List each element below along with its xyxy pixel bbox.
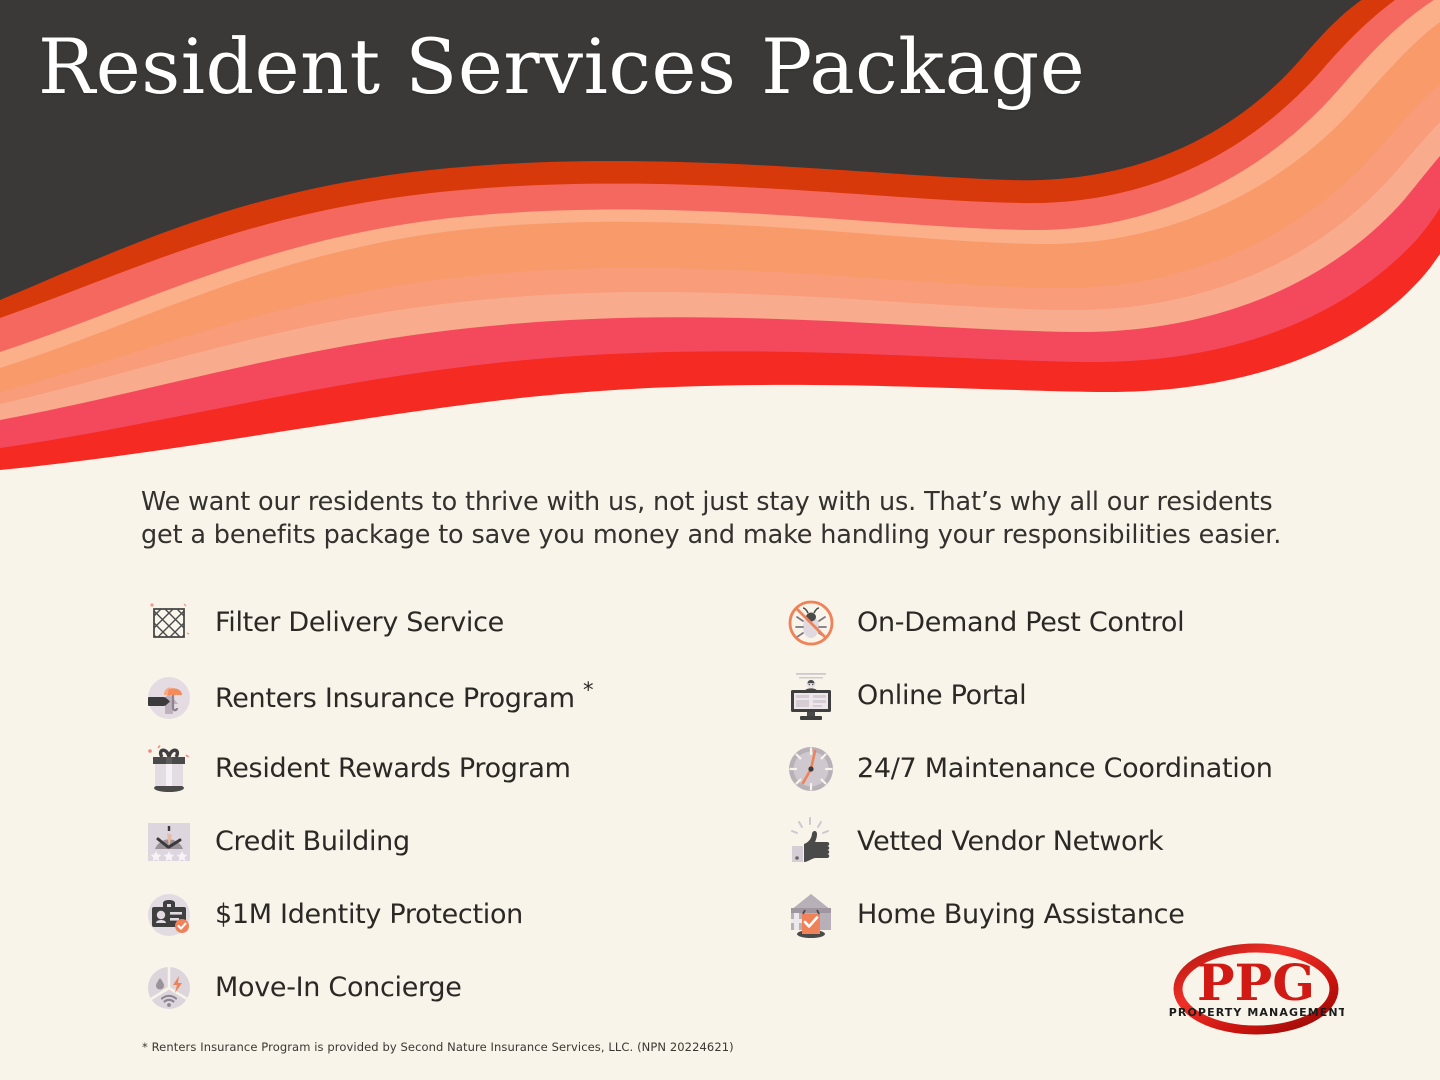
credit-gauge-stars-icon [140,813,198,871]
footnote: * Renters Insurance Program is provided … [142,1040,734,1054]
benefit-label: Renters Insurance Program * [215,678,593,714]
logo-wordmark: PPG [1197,953,1315,1012]
benefit-label: $1M Identity Protection [215,899,523,930]
benefit-label: On-Demand Pest Control [857,607,1184,638]
footnote-marker: * [583,678,593,702]
utilities-water-power-wifi-icon [140,959,198,1017]
benefit-item-maintenance: 24/7 Maintenance Coordination [782,732,1422,805]
thumbs-up-icon [782,813,840,871]
umbrella-insurance-icon [140,667,198,725]
page-title: Resident Services Package [38,26,1085,108]
slide-canvas: Resident Services Package We want our re… [0,0,1440,1080]
benefit-label: Resident Rewards Program [215,753,571,784]
id-badge-check-icon [140,886,198,944]
gift-box-icon [140,740,198,798]
header-banner: Resident Services Package [0,0,1440,470]
benefit-label: Filter Delivery Service [215,607,504,638]
benefit-label: Online Portal [857,680,1026,711]
benefit-label: Home Buying Assistance [857,899,1185,930]
benefit-item-online-portal: Online Portal [782,659,1422,732]
air-filter-icon [140,594,198,652]
desktop-portal-icon [782,667,840,725]
benefit-label: Vetted Vendor Network [857,826,1163,857]
benefit-item-pest-control: On-Demand Pest Control [782,586,1422,659]
benefit-label: Move-In Concierge [215,972,462,1003]
benefit-label: Credit Building [215,826,410,857]
benefit-label: 24/7 Maintenance Coordination [857,753,1273,784]
house-sold-sign-icon [782,886,840,944]
intro-paragraph: We want our residents to thrive with us,… [141,486,1311,551]
benefit-item-credit-building: Credit Building [140,805,780,878]
benefit-item-resident-rewards: Resident Rewards Program [140,732,780,805]
clock-icon [782,740,840,798]
brand-logo: PPG PROPERTY MANAGEMENT [1168,938,1344,1040]
no-pest-icon [782,594,840,652]
benefit-item-filter-delivery: Filter Delivery Service [140,586,780,659]
benefit-item-renters-insurance: Renters Insurance Program * [140,659,780,732]
benefits-column-left: Filter Delivery Service Renters Insuranc… [140,586,780,1024]
benefits-column-right: On-Demand Pest Control [782,586,1422,951]
logo-tagline: PROPERTY MANAGEMENT [1169,1006,1344,1019]
benefit-item-identity-protection: $1M Identity Protection [140,878,780,951]
benefit-item-move-in-concierge: Move-In Concierge [140,951,780,1024]
benefit-item-vetted-vendors: Vetted Vendor Network [782,805,1422,878]
